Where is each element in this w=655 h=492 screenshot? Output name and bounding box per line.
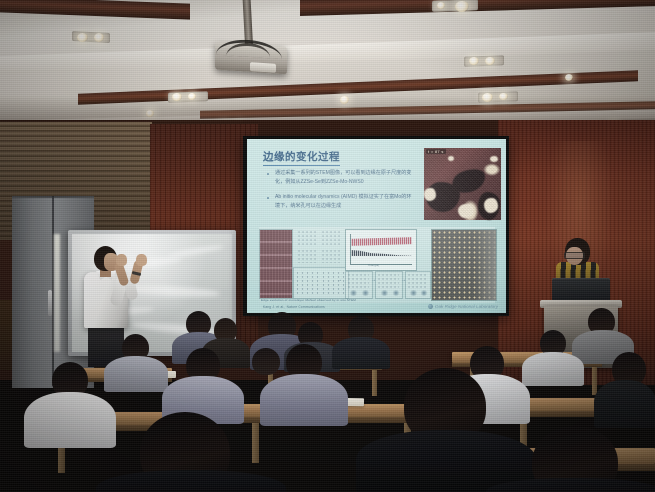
audience-shoulders xyxy=(594,380,655,428)
slide-title: 边缘的变化过程 xyxy=(263,149,340,166)
plot-x-axis xyxy=(350,264,412,265)
ceiling-spotlight xyxy=(94,33,104,42)
slide-logo: Oak Ridge National Laboratory xyxy=(428,304,498,309)
tem-micrograph: t = 87 s xyxy=(424,148,501,220)
ceiling-spotlight xyxy=(469,57,479,65)
operator-eyeglasses xyxy=(564,252,585,259)
figure-tem-image-strip xyxy=(259,229,293,299)
audience-shoulders xyxy=(332,337,390,369)
slide-logo-text: Oak Ridge National Laboratory xyxy=(435,304,498,309)
slide-bullet-item: 通过采集一系列的STEM图像，可以看到边缘在原子尺度的变化，例如从ZZSe-Se… xyxy=(267,169,413,187)
ceiling-spotlight xyxy=(77,33,88,42)
figure-lattice-diagram xyxy=(347,273,369,289)
figure-lattice-diagram xyxy=(407,273,427,289)
ceiling-spotlight xyxy=(485,57,495,65)
desk-leg xyxy=(592,367,597,395)
figure-cluster-glyph xyxy=(380,290,389,296)
slide-figure-panel: Time (ps) → → → Edge evolution of monola… xyxy=(259,227,495,303)
figure-lattice-diagram xyxy=(297,230,317,246)
ceiling-beam-top-left xyxy=(0,0,190,20)
ceiling xyxy=(0,0,655,132)
projection-screen: 边缘的变化过程 通过采集一系列的STEM图像，可以看到边缘在原子尺度的变化，例如… xyxy=(247,139,506,313)
figure-lattice-diagram xyxy=(321,249,341,263)
lecture-room-photo: 边缘的变化过程 通过采集一系列的STEM图像，可以看到边缘在原子尺度的变化，例如… xyxy=(0,0,655,492)
door-light-reflection xyxy=(54,234,60,352)
figure-atomic-resolution-image xyxy=(431,229,497,301)
desk-leg xyxy=(372,370,377,396)
tem-timestamp-label: t = 87 s xyxy=(426,149,446,154)
audience-shoulders-foreground xyxy=(96,470,286,492)
plot-x-axis-label: Time (ps) xyxy=(368,264,379,267)
door-handle[interactable] xyxy=(48,290,52,316)
projector-lens xyxy=(250,62,276,73)
plot-series-red xyxy=(350,237,412,246)
figure-lattice-diagram xyxy=(321,230,341,246)
figure-time-series-plot: Time (ps) xyxy=(345,229,417,271)
figure-arrow-icon: → xyxy=(401,277,406,283)
plot-series-dark xyxy=(350,250,412,256)
audience-shoulders xyxy=(24,392,116,448)
slide-bullet-list: 通过采集一系列的STEM图像，可以看到边缘在原子尺度的变化，例如从ZZSe-Se… xyxy=(267,169,413,217)
whiteboard-smudge xyxy=(168,244,224,259)
figure-arrow-icon: → xyxy=(371,277,376,283)
audience-shoulders xyxy=(104,356,168,392)
figure-cluster-glyph xyxy=(361,290,370,296)
plot-y-axis xyxy=(350,234,351,264)
oak-leaf-icon xyxy=(428,304,433,309)
presenter-hand-left xyxy=(116,254,127,266)
tem-noise-overlay xyxy=(424,148,501,220)
ceiling-spotlight xyxy=(455,1,469,12)
figure-cluster-glyph xyxy=(409,290,418,296)
audience-shoulders xyxy=(522,352,584,386)
slide-bullet-item: Ab initio molecular dynamics (AIMD) 模拟证实… xyxy=(267,193,413,211)
figure-cluster-glyph xyxy=(392,290,400,296)
figure-cluster-glyph xyxy=(349,290,358,296)
figure-arrow-icon: → xyxy=(337,277,342,283)
figure-lattice-diagram xyxy=(297,249,317,263)
desk-leg xyxy=(252,423,259,463)
ceiling-spotlight xyxy=(437,2,445,9)
figure-caption: Edge evolution of monolayer MoSe2 observ… xyxy=(261,298,356,302)
audience-head xyxy=(252,348,280,375)
audience-shoulders xyxy=(260,374,348,426)
figure-lattice-diagram xyxy=(377,273,399,289)
figure-panel-box xyxy=(293,267,349,299)
slide-citation: Kang J. et al., Nature Communications xyxy=(263,305,325,309)
presenter-hand-right xyxy=(136,254,147,266)
ceiling-spotlight xyxy=(565,74,573,81)
figure-cluster-glyph xyxy=(420,290,428,296)
